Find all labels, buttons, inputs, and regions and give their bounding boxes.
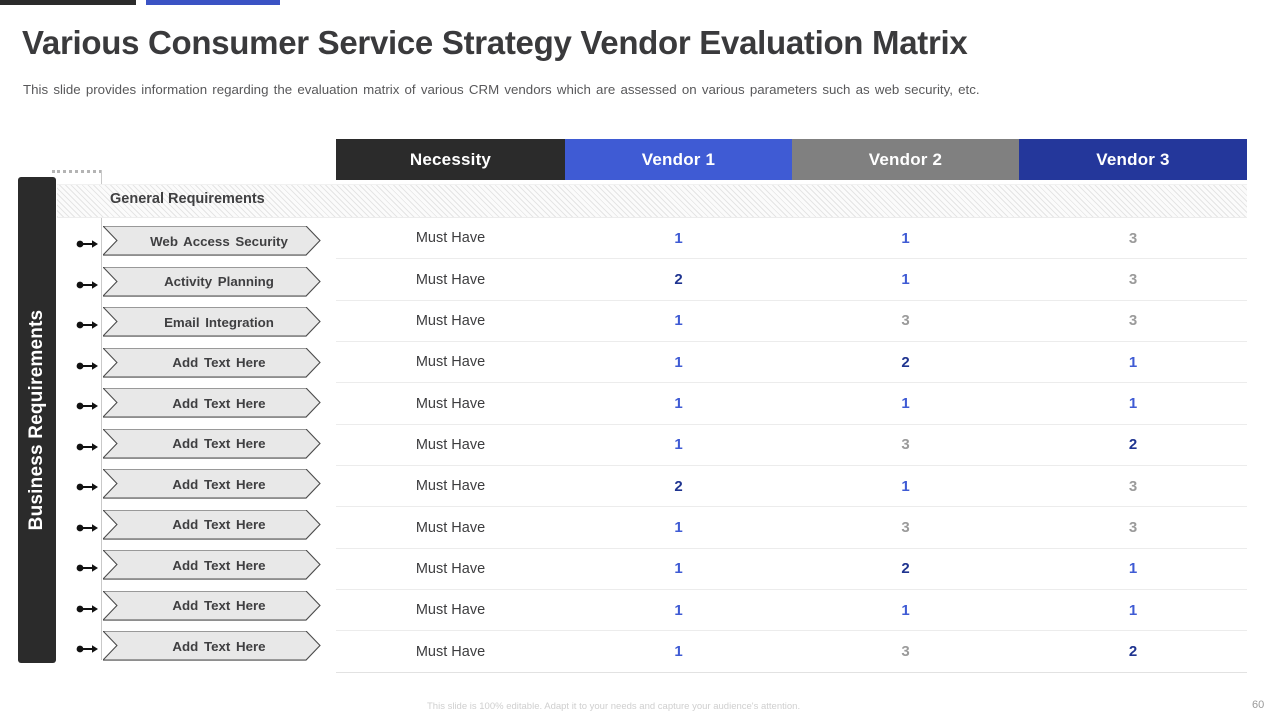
table-row: Must Have133 — [336, 300, 1247, 341]
table-cell-vendor2: 2 — [792, 342, 1019, 382]
chevron-shape-wrapper: Email Integration — [103, 307, 321, 337]
table-cell-vendor3: 1 — [1019, 383, 1247, 423]
table-cell-vendor2: 3 — [792, 301, 1019, 341]
table-cell-necessity: Must Have — [336, 342, 565, 382]
table-cell-vendor2: 3 — [792, 425, 1019, 465]
requirements-chevron-list: Web Access SecurityActivity PlanningEmai… — [76, 224, 326, 670]
table-cell-necessity: Must Have — [336, 549, 565, 589]
table-cell-vendor1: 1 — [565, 549, 792, 589]
table-cell-necessity: Must Have — [336, 218, 565, 258]
arrow-bullet-icon — [76, 642, 98, 654]
table-cell-vendor3: 3 — [1019, 507, 1247, 547]
chevron-shape-wrapper: Add Text Here — [103, 469, 321, 499]
requirement-item-label: Add Text Here — [103, 510, 321, 540]
requirement-item[interactable]: Web Access Security — [76, 224, 326, 265]
table-cell-vendor1: 1 — [565, 218, 792, 258]
arrow-bullet-icon — [76, 318, 98, 330]
table-cell-necessity: Must Have — [336, 507, 565, 547]
table-body: Must Have113Must Have213Must Have133Must… — [336, 217, 1247, 673]
table-cell-vendor2: 1 — [792, 383, 1019, 423]
table-row: Must Have113 — [336, 217, 1247, 258]
requirement-item[interactable]: Add Text Here — [76, 629, 326, 670]
chevron-shape-wrapper: Add Text Here — [103, 510, 321, 540]
requirement-item[interactable]: Add Text Here — [76, 589, 326, 630]
table-cell-necessity: Must Have — [336, 301, 565, 341]
table-cell-vendor3: 2 — [1019, 631, 1247, 671]
table-header-cell-necessity[interactable]: Necessity — [336, 139, 565, 180]
table-cell-vendor1: 1 — [565, 590, 792, 630]
arrow-bullet-icon — [76, 359, 98, 371]
table-cell-vendor3: 3 — [1019, 466, 1247, 506]
requirement-item-label: Add Text Here — [103, 429, 321, 459]
page-title: Various Consumer Service Strategy Vendor… — [22, 24, 967, 62]
table-cell-vendor3: 3 — [1019, 218, 1247, 258]
table-cell-vendor2: 1 — [792, 259, 1019, 299]
requirement-item-label: Add Text Here — [103, 348, 321, 378]
top-accent-bar-dark — [0, 0, 136, 5]
table-row: Must Have213 — [336, 258, 1247, 299]
table-cell-vendor3: 1 — [1019, 590, 1247, 630]
table-cell-necessity: Must Have — [336, 631, 565, 671]
dotted-connector-line — [52, 170, 102, 174]
table-cell-vendor1: 2 — [565, 466, 792, 506]
requirement-item-label: Add Text Here — [103, 550, 321, 580]
table-cell-necessity: Must Have — [336, 590, 565, 630]
table-cell-vendor2: 1 — [792, 590, 1019, 630]
table-cell-vendor3: 3 — [1019, 259, 1247, 299]
arrow-bullet-icon — [76, 561, 98, 573]
chevron-shape-wrapper: Add Text Here — [103, 550, 321, 580]
requirement-item[interactable]: Activity Planning — [76, 265, 326, 306]
table-cell-vendor3: 1 — [1019, 342, 1247, 382]
chevron-shape-wrapper: Activity Planning — [103, 267, 321, 297]
requirement-item[interactable]: Add Text Here — [76, 508, 326, 549]
table-cell-necessity: Must Have — [336, 383, 565, 423]
requirement-item-label: Add Text Here — [103, 591, 321, 621]
table-cell-vendor2: 2 — [792, 549, 1019, 589]
table-cell-vendor3: 1 — [1019, 549, 1247, 589]
requirement-item-label: Email Integration — [103, 307, 321, 337]
chevron-shape-wrapper: Add Text Here — [103, 591, 321, 621]
table-cell-necessity: Must Have — [336, 259, 565, 299]
table-cell-vendor1: 1 — [565, 507, 792, 547]
arrow-bullet-icon — [76, 278, 98, 290]
top-accent-bar-blue — [146, 0, 280, 5]
table-row: Must Have133 — [336, 506, 1247, 547]
arrow-bullet-icon — [76, 237, 98, 249]
table-cell-vendor1: 1 — [565, 425, 792, 465]
arrow-bullet-icon — [76, 399, 98, 411]
table-row: Must Have213 — [336, 465, 1247, 506]
table-cell-vendor1: 1 — [565, 342, 792, 382]
table-cell-necessity: Must Have — [336, 466, 565, 506]
requirement-item[interactable]: Add Text Here — [76, 467, 326, 508]
table-row: Must Have121 — [336, 341, 1247, 382]
page-number: 60 — [1252, 699, 1264, 711]
general-requirements-label: General Requirements — [110, 191, 265, 207]
table-row: Must Have132 — [336, 424, 1247, 465]
chevron-shape-wrapper: Add Text Here — [103, 429, 321, 459]
table-row: Must Have111 — [336, 382, 1247, 423]
requirement-item[interactable]: Add Text Here — [76, 427, 326, 468]
table-header-row: NecessityVendor 1Vendor 2Vendor 3 — [336, 139, 1247, 180]
arrow-bullet-icon — [76, 602, 98, 614]
requirement-item[interactable]: Email Integration — [76, 305, 326, 346]
table-cell-vendor2: 3 — [792, 631, 1019, 671]
table-row: Must Have132 — [336, 630, 1247, 671]
requirement-item[interactable]: Add Text Here — [76, 386, 326, 427]
vendor-evaluation-matrix: NecessityVendor 1Vendor 2Vendor 3 Must H… — [336, 139, 1247, 673]
table-cell-vendor3: 2 — [1019, 425, 1247, 465]
chevron-shape-wrapper: Add Text Here — [103, 388, 321, 418]
arrow-bullet-icon — [76, 440, 98, 452]
table-cell-vendor1: 1 — [565, 631, 792, 671]
table-cell-necessity: Must Have — [336, 425, 565, 465]
table-cell-vendor3: 3 — [1019, 301, 1247, 341]
business-requirements-band: Business Requirements — [18, 177, 56, 663]
footer-note: This slide is 100% editable. Adapt it to… — [427, 701, 800, 712]
table-row: Must Have121 — [336, 548, 1247, 589]
arrow-bullet-icon — [76, 480, 98, 492]
table-header-cell-vendor-3[interactable]: Vendor 3 — [1019, 139, 1247, 180]
requirement-item-label: Add Text Here — [103, 631, 321, 661]
requirement-item-label: Web Access Security — [103, 226, 321, 256]
table-cell-vendor2: 1 — [792, 218, 1019, 258]
requirement-item[interactable]: Add Text Here — [76, 346, 326, 387]
table-header-cell-vendor-2[interactable]: Vendor 2 — [792, 139, 1019, 180]
page-subtitle: This slide provides information regardin… — [23, 82, 980, 97]
table-header-cell-vendor-1[interactable]: Vendor 1 — [565, 139, 792, 180]
chevron-shape-wrapper: Add Text Here — [103, 348, 321, 378]
requirement-item-label: Add Text Here — [103, 469, 321, 499]
chevron-shape-wrapper: Web Access Security — [103, 226, 321, 256]
table-cell-vendor1: 2 — [565, 259, 792, 299]
chevron-shape-wrapper: Add Text Here — [103, 631, 321, 661]
table-cell-vendor1: 1 — [565, 301, 792, 341]
requirement-item-label: Activity Planning — [103, 267, 321, 297]
requirement-item[interactable]: Add Text Here — [76, 548, 326, 589]
table-cell-vendor2: 3 — [792, 507, 1019, 547]
business-requirements-label: Business Requirements — [26, 310, 48, 531]
requirement-item-label: Add Text Here — [103, 388, 321, 418]
arrow-bullet-icon — [76, 521, 98, 533]
table-row: Must Have111 — [336, 589, 1247, 630]
table-cell-vendor2: 1 — [792, 466, 1019, 506]
table-cell-vendor1: 1 — [565, 383, 792, 423]
